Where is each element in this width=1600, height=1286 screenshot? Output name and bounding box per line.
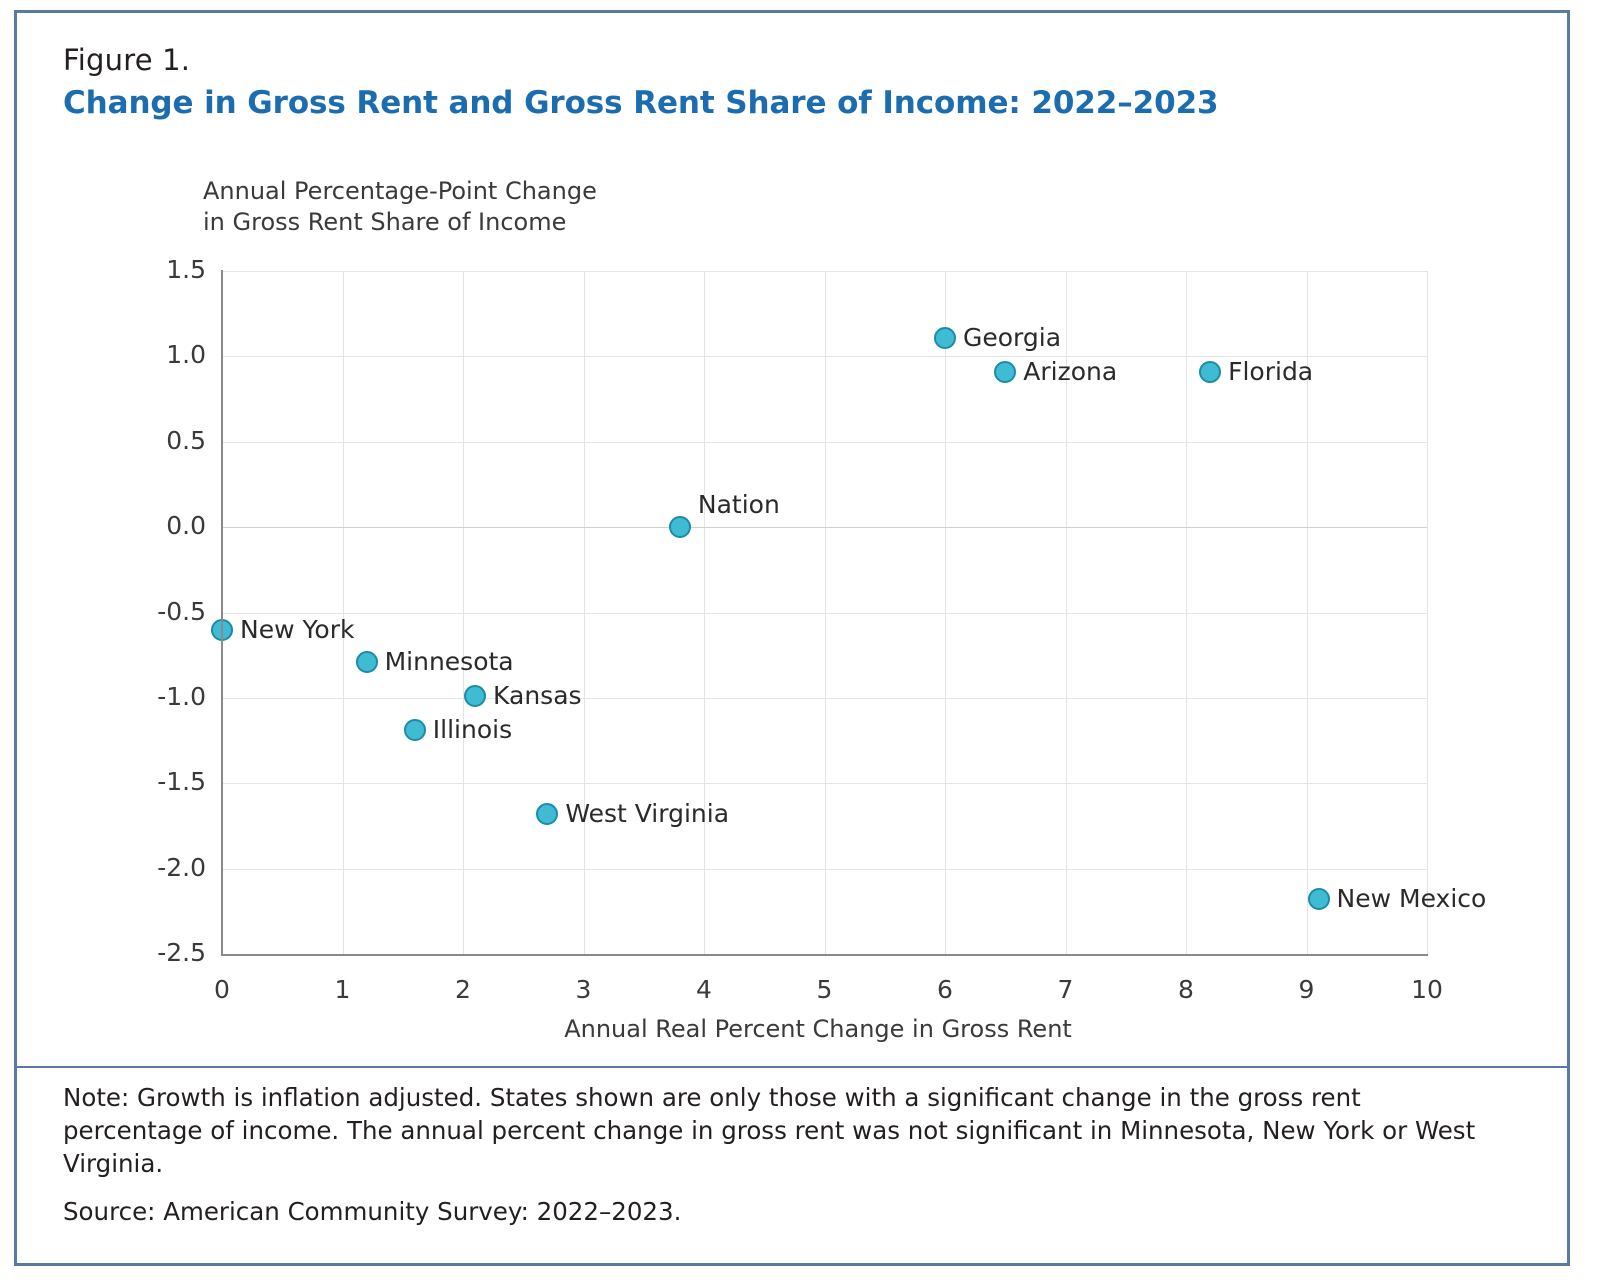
chart-source: Source: American Community Survey: 2022–… — [63, 1195, 1503, 1228]
data-point-label: Minnesota — [385, 647, 514, 676]
data-point-marker[interactable] — [404, 719, 426, 741]
gridline-horizontal — [222, 271, 1427, 272]
x-tick-label: 1 — [303, 975, 383, 1004]
x-tick-label: 8 — [1146, 975, 1226, 1004]
data-point-marker[interactable] — [934, 327, 956, 349]
data-point-label: New York — [240, 615, 354, 644]
x-tick-label: 10 — [1387, 975, 1467, 1004]
y-tick-label: 1.0 — [86, 340, 206, 369]
plot-area: GeorgiaArizonaFloridaNationNew YorkMinne… — [222, 271, 1427, 954]
gridline-horizontal — [222, 783, 1427, 784]
y-axis-line — [221, 270, 223, 955]
x-axis-line — [221, 954, 1428, 956]
y-tick-label: -1.0 — [86, 682, 206, 711]
data-point-marker[interactable] — [994, 361, 1016, 383]
y-tick-label: 0.5 — [86, 426, 206, 455]
x-tick-label: 6 — [905, 975, 985, 1004]
x-tick-label: 4 — [664, 975, 744, 1004]
y-tick-label: 1.5 — [86, 255, 206, 284]
data-point-label: Arizona — [1023, 357, 1117, 386]
x-axis-title: Annual Real Percent Change in Gross Rent — [17, 1015, 1600, 1043]
x-tick-label: 7 — [1026, 975, 1106, 1004]
gridline-vertical — [1427, 271, 1428, 954]
data-point-marker[interactable] — [1308, 888, 1330, 910]
data-point-label: West Virginia — [565, 799, 729, 828]
chart-note: Note: Growth is inflation adjusted. Stat… — [63, 1081, 1503, 1180]
data-point-label: Kansas — [493, 681, 582, 710]
figure-container: Figure 1. Change in Gross Rent and Gross… — [14, 10, 1570, 1266]
gridline-horizontal — [222, 527, 1427, 528]
data-point-marker[interactable] — [464, 685, 486, 707]
y-tick-label: -0.5 — [86, 597, 206, 626]
data-point-marker[interactable] — [1199, 361, 1221, 383]
gridline-horizontal — [222, 698, 1427, 699]
x-tick-label: 0 — [182, 975, 262, 1004]
y-tick-label: -2.0 — [86, 853, 206, 882]
data-point-label: Illinois — [433, 715, 512, 744]
data-point-label: Georgia — [963, 323, 1061, 352]
data-point-label: Nation — [698, 490, 780, 519]
data-point-marker[interactable] — [669, 516, 691, 538]
data-point-marker[interactable] — [356, 651, 378, 673]
data-point-marker[interactable] — [536, 803, 558, 825]
scatter-chart: Annual Percentage-Point Change in Gross … — [17, 13, 1567, 1073]
gridline-horizontal — [222, 613, 1427, 614]
data-point-label: Florida — [1228, 357, 1313, 386]
x-tick-label: 9 — [1267, 975, 1347, 1004]
x-tick-label: 2 — [423, 975, 503, 1004]
y-axis-title: Annual Percentage-Point Change in Gross … — [203, 176, 597, 238]
y-tick-label: 0.0 — [86, 511, 206, 540]
y-tick-label: -2.5 — [86, 938, 206, 967]
footer-divider — [17, 1066, 1567, 1068]
gridline-horizontal — [222, 869, 1427, 870]
x-tick-label: 5 — [785, 975, 865, 1004]
y-tick-label: -1.5 — [86, 767, 206, 796]
gridline-horizontal — [222, 442, 1427, 443]
data-point-label: New Mexico — [1337, 884, 1487, 913]
x-tick-label: 3 — [544, 975, 624, 1004]
